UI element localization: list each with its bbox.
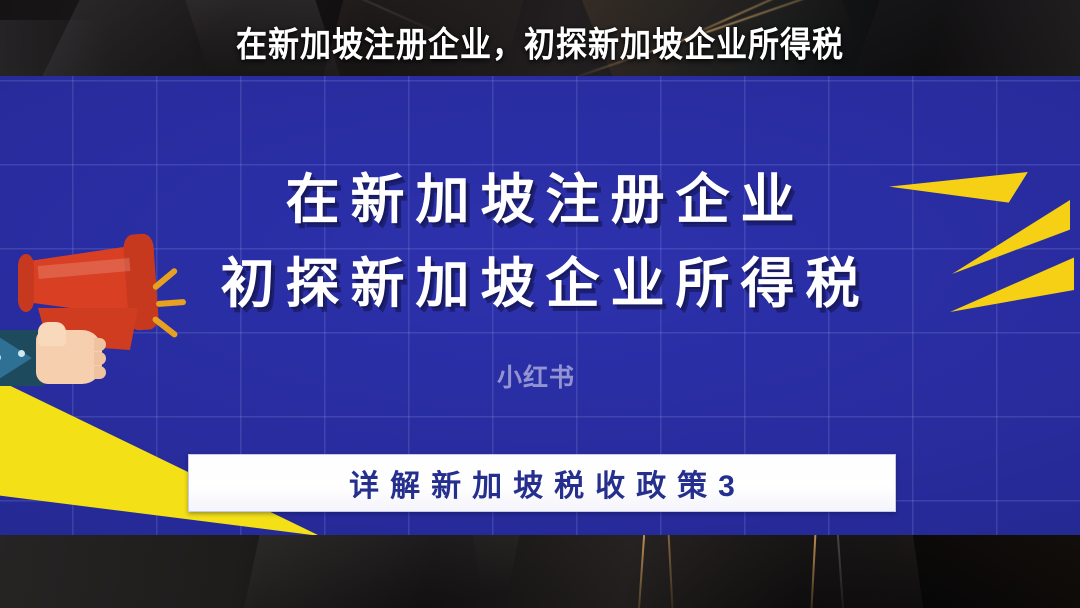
main-headline: 在新加坡注册企业 初探新加坡企业所得税: [0, 158, 1080, 326]
bottom-banner: [0, 535, 1080, 608]
bottom-facet-4: [900, 535, 1080, 608]
sleeve-dot-2: [18, 350, 25, 357]
xiaohongshu-watermark: 小红书: [497, 358, 575, 394]
headline-line-1: 在新加坡注册企业: [0, 158, 1080, 242]
video-cover-slide: 在新加坡注册企业，初探新加坡企业所得税: [0, 0, 1080, 608]
headline-line-2: 初探新加坡企业所得税: [0, 242, 1080, 326]
bottom-light-streak-1: [637, 535, 645, 608]
subtitle-text: 详解新加坡税收政策3: [338, 461, 746, 505]
bottom-light-streak-2: [668, 535, 674, 608]
bottom-light-streak-3: [810, 535, 816, 608]
bottom-facet-1: [0, 535, 320, 608]
bottom-facet-3: [472, 535, 929, 608]
hand-finger-1: [94, 338, 106, 351]
top-banner: 在新加坡注册企业，初探新加坡企业所得税: [0, 0, 1080, 76]
banner-title: 在新加坡注册企业，初探新加坡企业所得税: [0, 24, 1080, 67]
bottom-light-streak-4: [837, 535, 845, 608]
hand-finger-2: [94, 352, 106, 365]
subtitle-bar: 详解新加坡税收政策3: [188, 454, 896, 512]
bottom-facet-2: [236, 535, 524, 608]
main-blue-panel: 在新加坡注册企业 初探新加坡企业所得税 小红书 详解新加坡税收政策3: [0, 76, 1080, 535]
hand-finger-3: [94, 366, 106, 379]
